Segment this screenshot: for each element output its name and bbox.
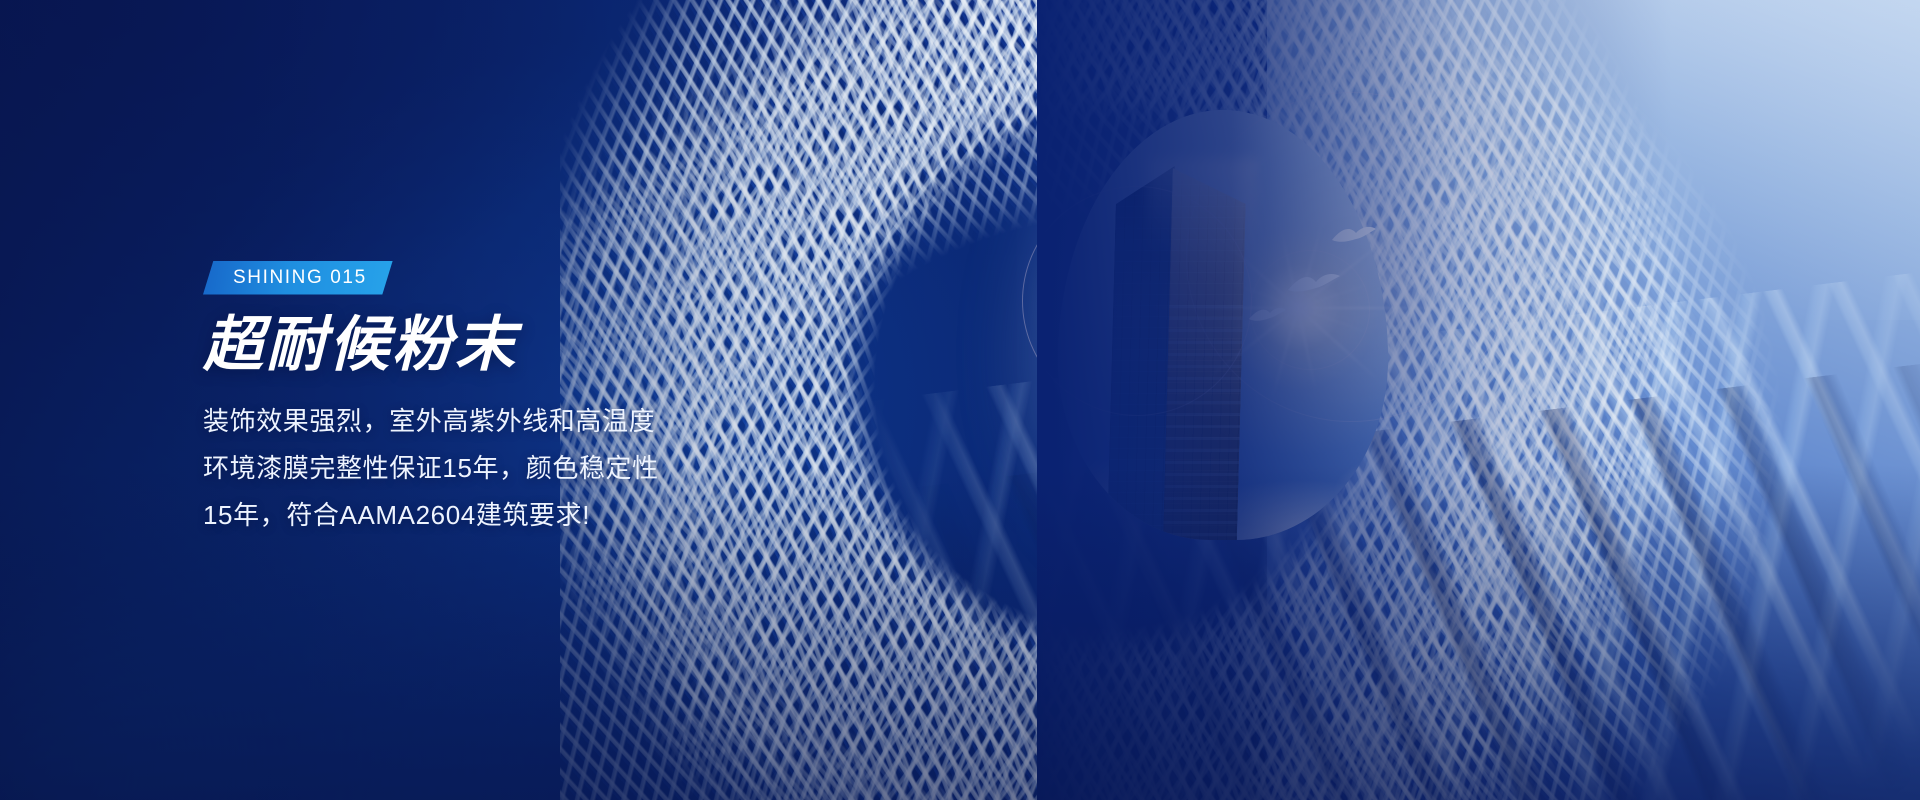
product-code-badge: SHINING 015 (203, 261, 393, 295)
top-right-glow (1382, 0, 1920, 320)
description-line-2: 环境漆膜完整性保证15年，颜色稳定性 (203, 445, 723, 492)
description-line-1: 装饰效果强烈，室外高紫外线和高温度 (203, 398, 723, 445)
product-description: 装饰效果强烈，室外高紫外线和高温度 环境漆膜完整性保证15年，颜色稳定性 15年… (203, 398, 723, 540)
page-title: 超耐候粉末 (203, 313, 760, 376)
product-hero-banner: SHINING 015 超耐候粉末 装饰效果强烈，室外高紫外线和高温度 环境漆膜… (0, 0, 1920, 800)
description-line-3: 15年，符合AAMA2604建筑要求! (203, 492, 723, 539)
hero-text-block: SHINING 015 超耐候粉末 装饰效果强烈，室外高紫外线和高温度 环境漆膜… (0, 0, 760, 800)
